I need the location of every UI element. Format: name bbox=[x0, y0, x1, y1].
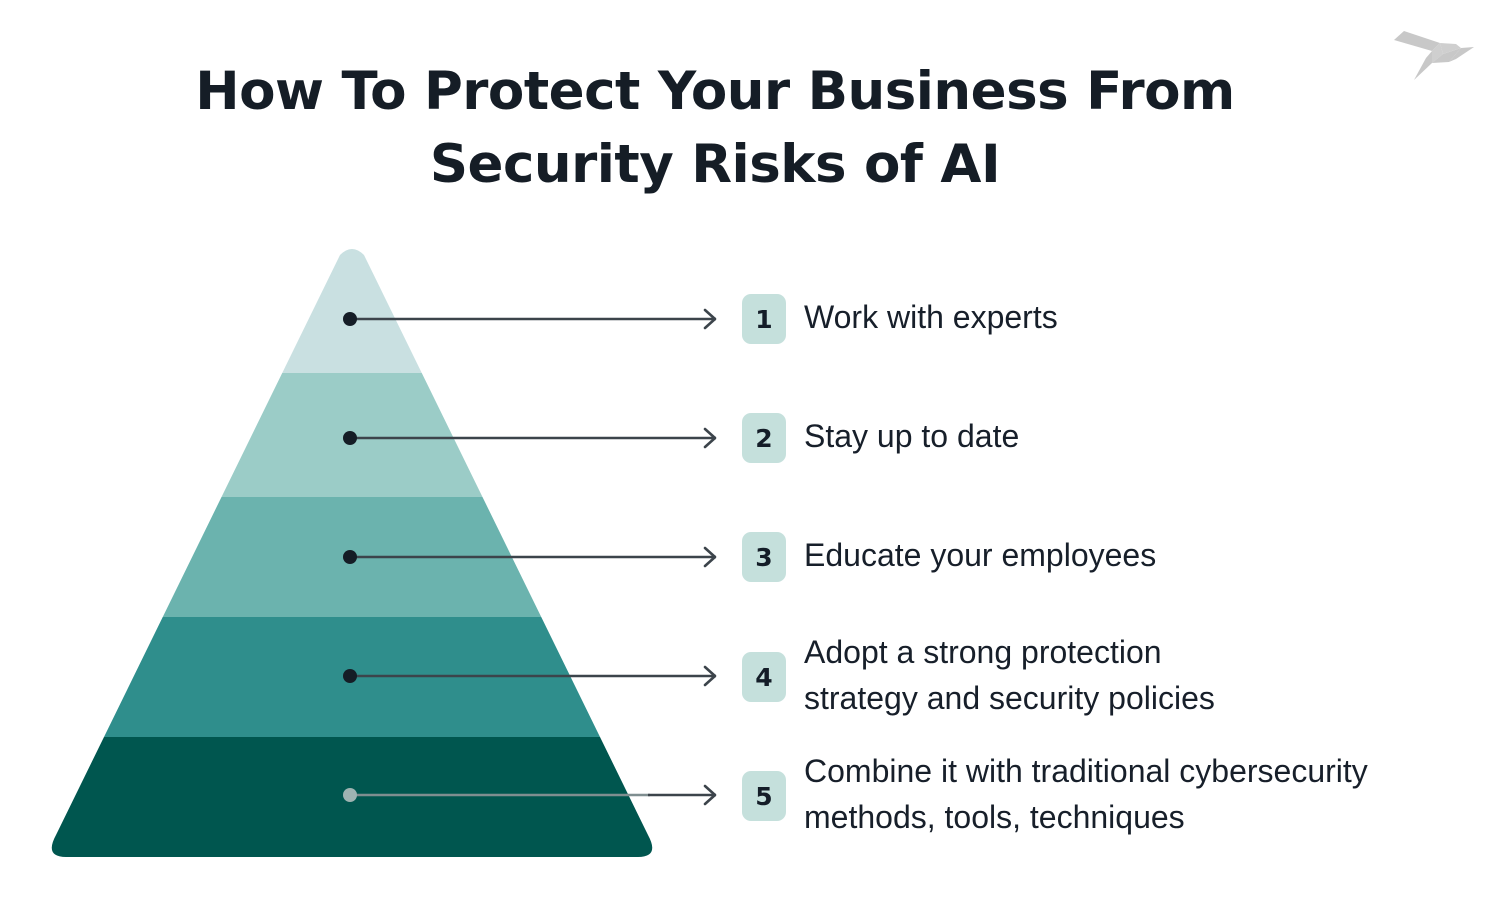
list-item[interactable]: 1 Work with experts bbox=[742, 294, 1058, 344]
pyramid-level-5 bbox=[40, 737, 665, 870]
status-badge: 4 bbox=[742, 652, 786, 702]
pyramid-level-4 bbox=[40, 617, 665, 737]
origami-bird-logo bbox=[1386, 18, 1482, 90]
page-title-line-1: How To Protect Your Business From bbox=[150, 55, 1280, 128]
pyramid-level-3 bbox=[40, 497, 665, 617]
pyramid-level-2 bbox=[40, 373, 665, 497]
pyramid-level-1 bbox=[40, 245, 665, 373]
pyramid-chart bbox=[40, 245, 665, 870]
list-item-label: Combine it with traditional cybersecurit… bbox=[804, 748, 1368, 840]
list-item-label: Educate your employees bbox=[804, 532, 1156, 578]
list-item[interactable]: 4 Adopt a strong protection strategy and… bbox=[742, 629, 1215, 721]
status-badge: 2 bbox=[742, 413, 786, 463]
status-badge: 1 bbox=[742, 294, 786, 344]
pyramid-levels bbox=[40, 245, 665, 870]
list-item-label: Adopt a strong protection strategy and s… bbox=[804, 629, 1215, 721]
list-item[interactable]: 2 Stay up to date bbox=[742, 413, 1019, 463]
list-item[interactable]: 3 Educate your employees bbox=[742, 532, 1156, 582]
page-title: How To Protect Your Business From Securi… bbox=[150, 55, 1280, 201]
status-badge: 3 bbox=[742, 532, 786, 582]
page-title-line-2: Security Risks of AI bbox=[150, 128, 1280, 201]
status-badge: 5 bbox=[742, 771, 786, 821]
list-item[interactable]: 5 Combine it with traditional cybersecur… bbox=[742, 748, 1368, 840]
infographic-canvas: How To Protect Your Business From Securi… bbox=[0, 0, 1500, 918]
list-item-label: Work with experts bbox=[804, 294, 1058, 340]
list-item-label: Stay up to date bbox=[804, 413, 1019, 459]
